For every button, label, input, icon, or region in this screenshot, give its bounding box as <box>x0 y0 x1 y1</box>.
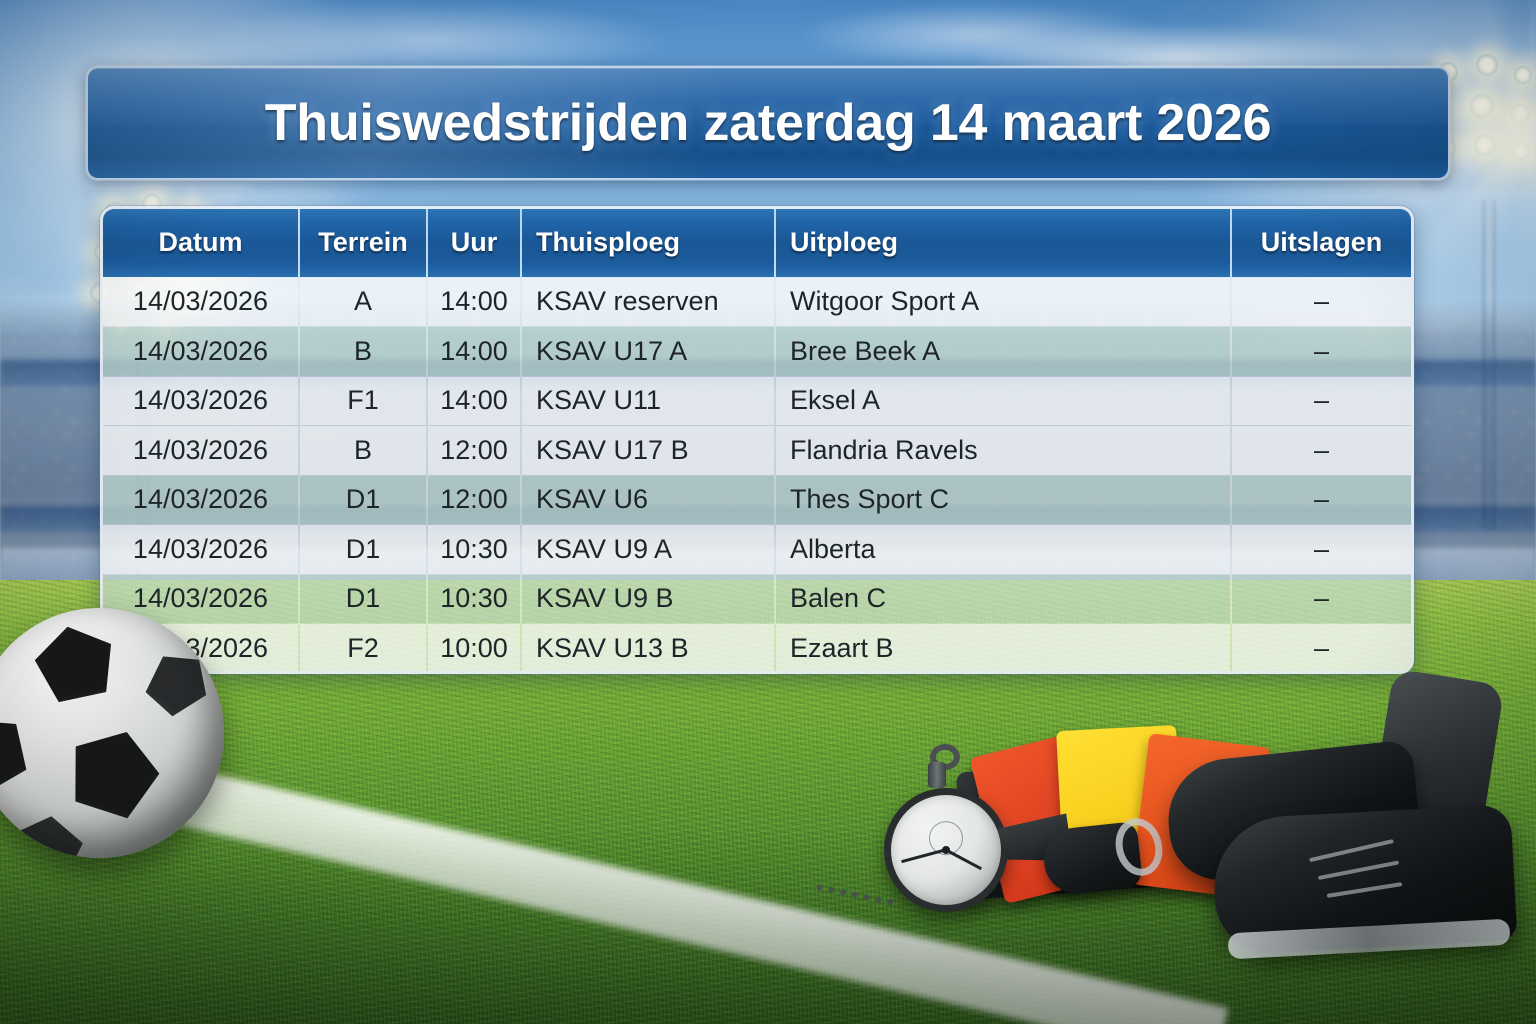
cell-thuisploeg: KSAV U13 B <box>521 624 775 674</box>
cell-uitslag: – <box>1231 624 1411 674</box>
cell-uur: 10:30 <box>427 574 521 624</box>
cell-thuisploeg: KSAV U17 A <box>521 327 775 377</box>
cell-uitslag: – <box>1231 376 1411 426</box>
boot-lace <box>1309 839 1394 862</box>
cell-thuisploeg: KSAV U17 B <box>521 426 775 476</box>
cell-uitploeg: Alberta <box>775 525 1231 575</box>
table-row[interactable]: 14/03/2026 B 12:00 KSAV U17 B Flandria R… <box>103 426 1411 476</box>
cell-uur: 10:00 <box>427 624 521 674</box>
cell-uitslag: – <box>1231 327 1411 377</box>
column-header-uur[interactable]: Uur <box>427 209 521 277</box>
cell-thuisploeg: KSAV U11 <box>521 376 775 426</box>
cell-thuisploeg: KSAV U6 <box>521 475 775 525</box>
cell-uur: 14:00 <box>427 277 521 327</box>
table-row[interactable]: 14/03/2026 F1 14:00 KSAV U11 Eksel A – <box>103 376 1411 426</box>
cell-uur: 14:00 <box>427 327 521 377</box>
cell-terrein: A <box>299 277 427 327</box>
cell-thuisploeg: KSAV U9 A <box>521 525 775 575</box>
cell-terrein: D1 <box>299 475 427 525</box>
table-row[interactable]: 14/03/2026 B 14:00 KSAV U17 A Bree Beek … <box>103 327 1411 377</box>
cell-datum: 14/03/2026 <box>103 376 299 426</box>
stopwatch-crown <box>928 762 946 788</box>
boot-lace <box>1327 882 1403 898</box>
soccer-ball-icon <box>0 608 224 858</box>
boot-lace <box>1318 860 1399 880</box>
page-title: Thuiswedstrijden zaterdag 14 maart 2026 <box>88 68 1448 178</box>
cell-uitploeg: Thes Sport C <box>775 475 1231 525</box>
schedule-panel: Datum Terrein Uur Thuisploeg Uitploeg Ui… <box>100 206 1414 674</box>
column-header-terrein[interactable]: Terrein <box>299 209 427 277</box>
cell-uitploeg: Bree Beek A <box>775 327 1231 377</box>
cell-uitslag: – <box>1231 574 1411 624</box>
cell-thuisploeg: KSAV reserven <box>521 277 775 327</box>
cell-uitploeg: Flandria Ravels <box>775 426 1231 476</box>
cell-terrein: F2 <box>299 624 427 674</box>
cell-uitslag: – <box>1231 475 1411 525</box>
stopwatch-minute-hand <box>945 849 982 870</box>
cell-datum: 14/03/2026 <box>103 525 299 575</box>
cell-uitploeg: Ezaart B <box>775 624 1231 674</box>
cell-datum: 14/03/2026 <box>103 327 299 377</box>
cell-terrein: F1 <box>299 376 427 426</box>
column-header-uitploeg[interactable]: Uitploeg <box>775 209 1231 277</box>
table-row[interactable]: 14/03/2026 F2 10:00 KSAV U13 B Ezaart B … <box>103 624 1411 674</box>
schedule-table: Datum Terrein Uur Thuisploeg Uitploeg Ui… <box>103 209 1411 674</box>
cell-terrein: B <box>299 327 427 377</box>
cell-terrein: B <box>299 426 427 476</box>
table-row[interactable]: 14/03/2026 D1 10:30 KSAV U9 B Balen C – <box>103 574 1411 624</box>
column-header-thuisploeg[interactable]: Thuisploeg <box>521 209 775 277</box>
cell-uitploeg: Eksel A <box>775 376 1231 426</box>
cell-uitslag: – <box>1231 426 1411 476</box>
table-row[interactable]: 14/03/2026 A 14:00 KSAV reserven Witgoor… <box>103 277 1411 327</box>
cell-uitploeg: Balen C <box>775 574 1231 624</box>
cell-uitslag: – <box>1231 525 1411 575</box>
cell-terrein: D1 <box>299 574 427 624</box>
cell-uitploeg: Witgoor Sport A <box>775 277 1231 327</box>
table-body: 14/03/2026 A 14:00 KSAV reserven Witgoor… <box>103 277 1411 673</box>
stopwatch-icon <box>884 788 1008 912</box>
cell-uur: 14:00 <box>427 376 521 426</box>
cell-uur: 12:00 <box>427 426 521 476</box>
table-header: Datum Terrein Uur Thuisploeg Uitploeg Ui… <box>103 209 1411 277</box>
stopwatch-second-hand <box>901 849 946 863</box>
stopwatch-pivot <box>942 846 950 854</box>
poster-canvas: Thuiswedstrijden zaterdag 14 maart 2026 … <box>0 0 1536 1024</box>
table-row[interactable]: 14/03/2026 D1 10:30 KSAV U9 A Alberta – <box>103 525 1411 575</box>
column-header-datum[interactable]: Datum <box>103 209 299 277</box>
cell-datum: 14/03/2026 <box>103 475 299 525</box>
cell-thuisploeg: KSAV U9 B <box>521 574 775 624</box>
title-panel: Thuiswedstrijden zaterdag 14 maart 2026 <box>86 66 1450 180</box>
cell-uitslag: – <box>1231 277 1411 327</box>
ball-shading <box>0 608 224 858</box>
cell-datum: 14/03/2026 <box>103 426 299 476</box>
cell-uur: 10:30 <box>427 525 521 575</box>
cell-terrein: D1 <box>299 525 427 575</box>
table-row[interactable]: 14/03/2026 D1 12:00 KSAV U6 Thes Sport C… <box>103 475 1411 525</box>
cell-datum: 14/03/2026 <box>103 277 299 327</box>
cell-uur: 12:00 <box>427 475 521 525</box>
column-header-uitslagen[interactable]: Uitslagen <box>1231 209 1411 277</box>
table-header-row: Datum Terrein Uur Thuisploeg Uitploeg Ui… <box>103 209 1411 277</box>
